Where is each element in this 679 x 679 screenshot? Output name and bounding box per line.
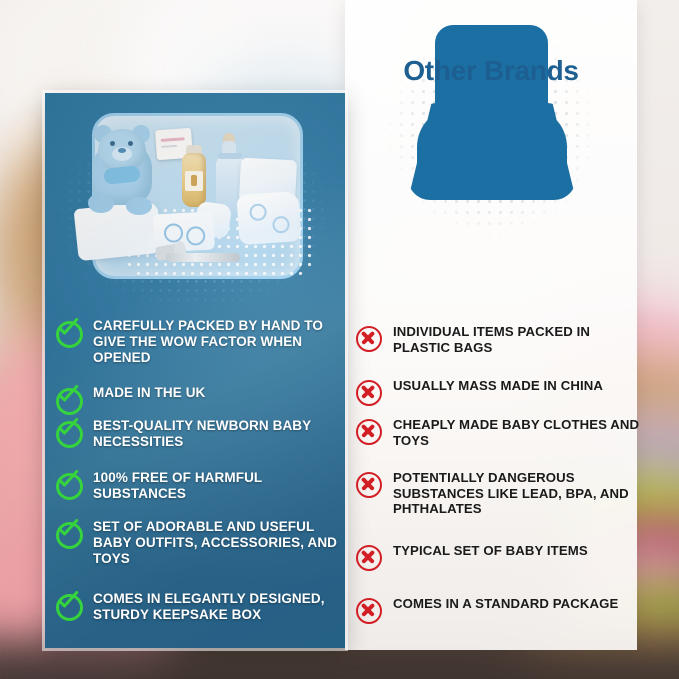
list-item: COMES IN ELEGANTLY DESIGNED, STURDY KEEP…: [55, 591, 345, 623]
x-icon: [355, 378, 381, 404]
check-icon: [55, 519, 81, 545]
list-item-label: BEST-QUALITY NEWBORN BABY NECESSITIES: [93, 418, 345, 450]
x-icon: [355, 596, 381, 622]
list-item-label: COMES IN A STANDARD PACKAGE: [393, 596, 618, 612]
list-item-label: POTENTIALLY DANGEROUS SUBSTANCES LIKE LE…: [393, 470, 640, 517]
list-item-label: COMES IN ELEGANTLY DESIGNED, STURDY KEEP…: [93, 591, 345, 623]
list-item: CHEAPLY MADE BABY CLOTHES AND TOYS: [355, 417, 640, 448]
check-icon: [55, 470, 81, 496]
x-icon: [355, 470, 381, 496]
list-item: POTENTIALLY DANGEROUS SUBSTANCES LIKE LE…: [355, 470, 640, 517]
list-item: USUALLY MASS MADE IN CHINA: [355, 378, 603, 404]
list-item: INDIVIDUAL ITEMS PACKED IN PLASTIC BAGS: [355, 324, 640, 355]
generic-package-silhouette: [405, 25, 580, 200]
list-item-label: INDIVIDUAL ITEMS PACKED IN PLASTIC BAGS: [393, 324, 640, 355]
list-item-label: USUALLY MASS MADE IN CHINA: [393, 378, 603, 394]
list-item-label: 100% FREE OF HARMFUL SUBSTANCES: [93, 470, 345, 502]
x-icon: [355, 417, 381, 443]
check-icon: [55, 418, 81, 444]
list-item-label: MADE IN THE UK: [93, 385, 205, 401]
list-item: BEST-QUALITY NEWBORN BABY NECESSITIES: [55, 418, 345, 450]
list-item-label: SET OF ADORABLE AND USEFUL BABY OUTFITS,…: [93, 519, 345, 567]
check-icon: [55, 318, 81, 344]
x-icon: [355, 543, 381, 569]
list-item: COMES IN A STANDARD PACKAGE: [355, 596, 618, 622]
check-icon: [55, 591, 81, 617]
list-item-label: TYPICAL SET OF BABY ITEMS: [393, 543, 588, 559]
list-item: SET OF ADORABLE AND USEFUL BABY OUTFITS,…: [55, 519, 345, 567]
list-item: MADE IN THE UK: [55, 385, 205, 411]
list-item: 100% FREE OF HARMFUL SUBSTANCES: [55, 470, 345, 502]
gift-basket-photo: [70, 107, 320, 292]
list-item: TYPICAL SET OF BABY ITEMS: [355, 543, 588, 569]
list-item: CAREFULLY PACKED BY HAND TO GIVE THE WOW…: [55, 318, 345, 366]
infographic-canvas: Other Brands: [0, 0, 679, 679]
list-item-label: CHEAPLY MADE BABY CLOTHES AND TOYS: [393, 417, 640, 448]
check-icon: [55, 385, 81, 411]
list-item-label: CAREFULLY PACKED BY HAND TO GIVE THE WOW…: [93, 318, 345, 366]
x-icon: [355, 324, 381, 350]
page-title: Other Brands: [345, 55, 637, 87]
